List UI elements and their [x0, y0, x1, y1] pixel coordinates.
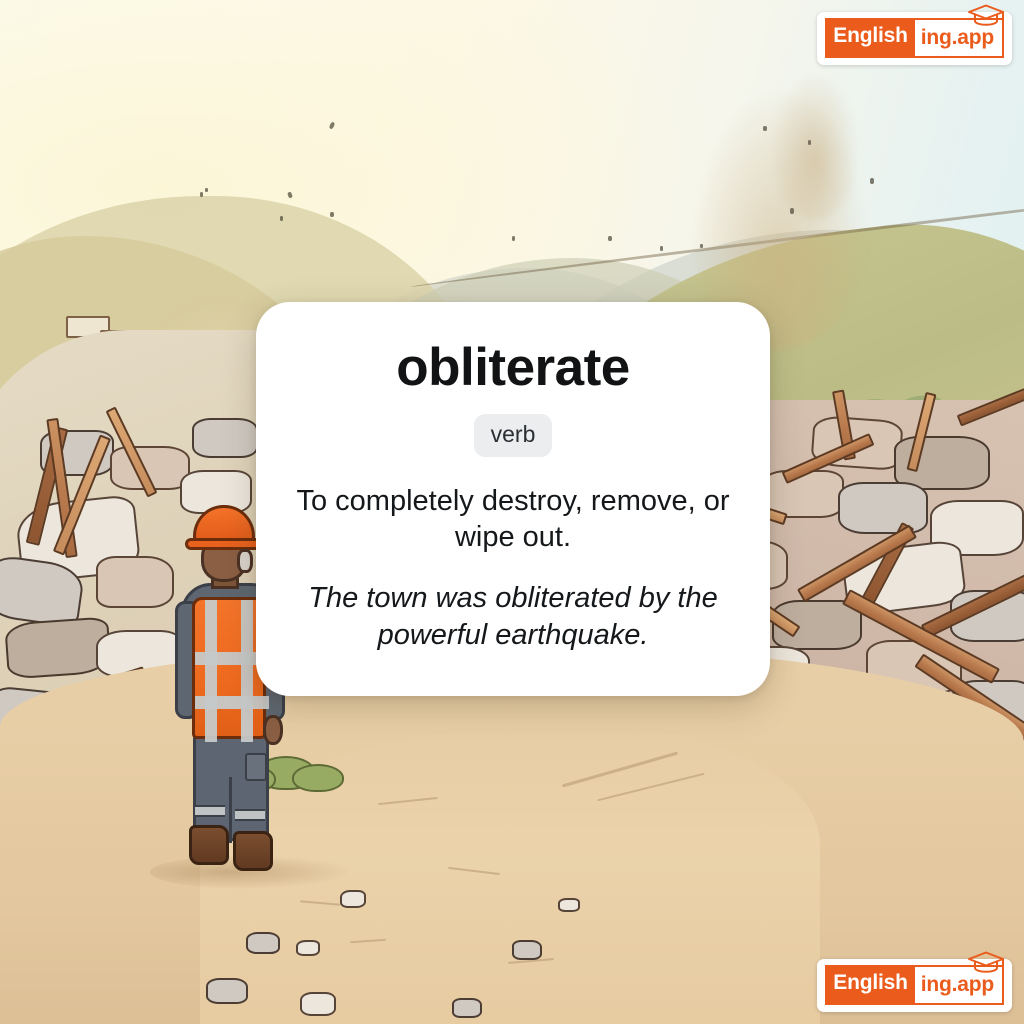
worker-hi-vis-vest [192, 597, 266, 739]
part-of-speech-badge: verb [474, 414, 553, 457]
worker-boot-right [233, 831, 273, 871]
logo-wordmark-bottom: English ing.app [825, 965, 1004, 1005]
brand-logo-bottom-right[interactable]: English ing.app [817, 959, 1012, 1012]
definition-text: To completely destroy, remove, or wipe o… [290, 483, 736, 557]
definition-card: obliterate verb To completely destroy, r… [256, 302, 770, 696]
worker-hard-hat-brim [185, 538, 265, 550]
logo-text-english: English [825, 18, 914, 58]
worker-boot-left [189, 825, 229, 865]
worker-ear-protection [237, 549, 253, 573]
brand-logo-top-right[interactable]: English ing.app [817, 12, 1012, 65]
logo-text-english-bottom: English [825, 965, 914, 1005]
word-title: obliterate [396, 340, 630, 396]
dust-plume-top [770, 70, 860, 220]
example-sentence-text: The town was obliterated by the powerful… [290, 580, 736, 654]
worker-hand [263, 715, 283, 745]
worker-leg-reflective-band-left [195, 805, 225, 817]
graduation-cap-icon [966, 3, 1006, 27]
worker-cargo-pocket [245, 753, 267, 781]
worker-leg-seam [229, 777, 232, 843]
logo-wordmark: English ing.app [825, 18, 1004, 58]
graduation-cap-icon-bottom [966, 950, 1006, 974]
worker-leg-reflective-band-right [235, 809, 265, 821]
vocabulary-flashcard-image: obliterate verb To completely destroy, r… [0, 0, 1024, 1024]
